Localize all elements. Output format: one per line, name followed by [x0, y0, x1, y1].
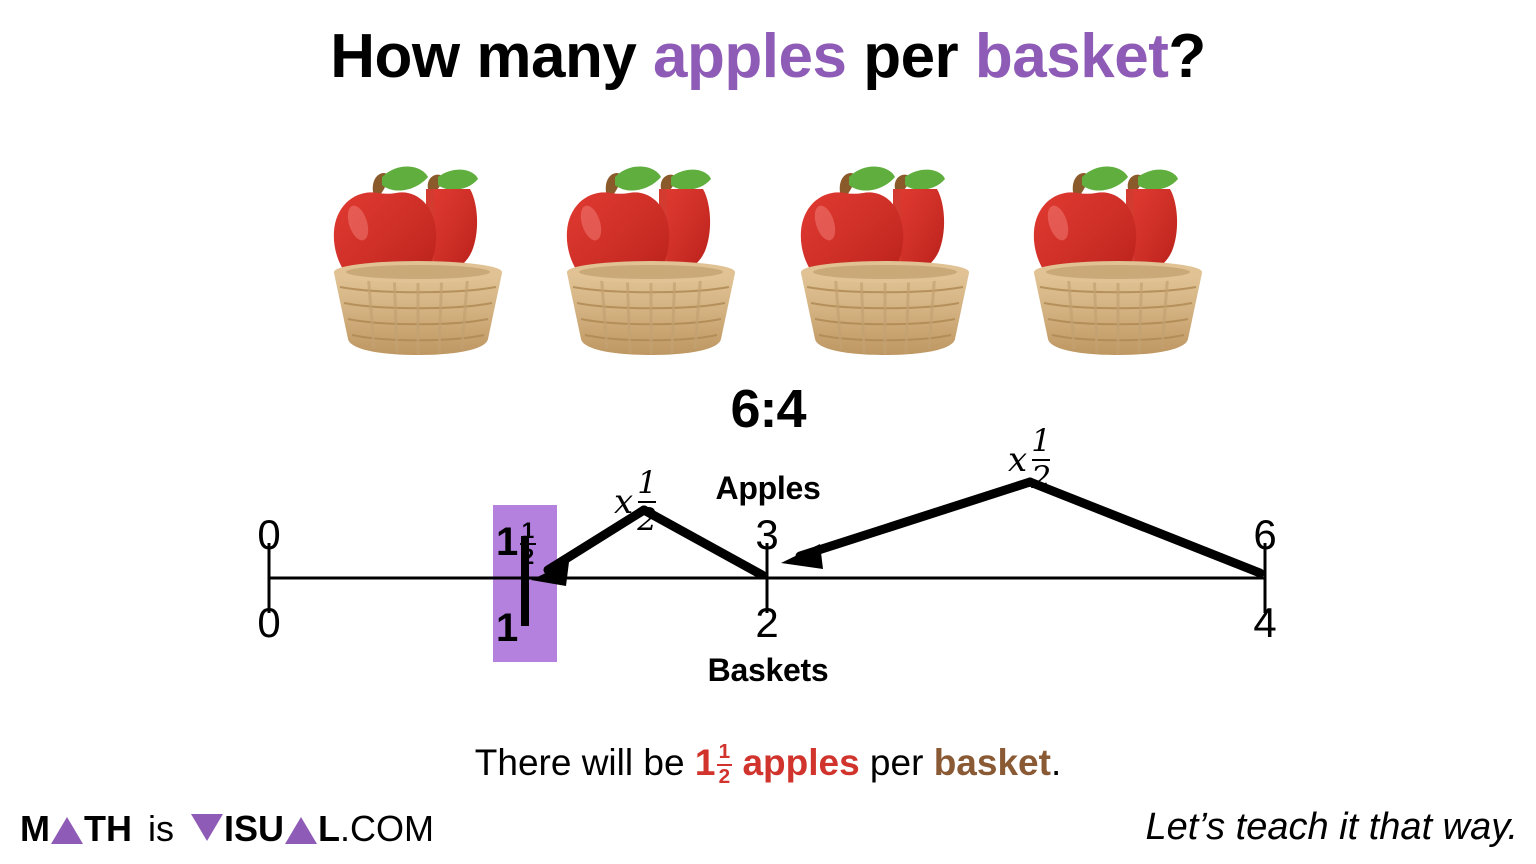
title-part-3: ?	[1168, 22, 1205, 91]
sentence-value: 112	[695, 742, 732, 783]
arrowhead	[781, 544, 823, 569]
sentence-middle: per	[860, 742, 934, 783]
basket-with-apples-3	[785, 147, 985, 362]
logo-th: TH	[84, 808, 132, 850]
sentence-apples-word: apples	[742, 742, 859, 783]
triangle-down-icon	[191, 814, 223, 841]
triangle-up-icon	[51, 817, 83, 844]
jump-arrow-right	[781, 482, 1260, 573]
footer-tagline: Let’s teach it that way.	[1146, 806, 1518, 849]
logo-dotcom: .COM	[340, 808, 434, 850]
site-logo[interactable]: MTHisISUL.COM	[20, 808, 434, 850]
page-title: How many apples per basket?	[0, 24, 1536, 89]
logo-is: is	[148, 808, 174, 850]
basket-icon	[318, 147, 518, 362]
sentence-basket-word: basket	[934, 742, 1051, 783]
title-keyword-basket: basket	[975, 22, 1168, 91]
title-part-2: per	[846, 22, 974, 91]
jump-arrow-left	[531, 510, 762, 586]
basket-icon	[785, 147, 985, 362]
basket-icon	[1018, 147, 1218, 362]
sentence-end: .	[1051, 742, 1061, 783]
conclusion-sentence: There will be 112 apples per basket.	[0, 742, 1536, 788]
logo-isu: ISU	[224, 808, 284, 850]
number-line-graphics	[0, 430, 1536, 700]
double-number-line: Apples Baskets 0 3 6 0 2 4 112 1 x 1 2 x…	[0, 430, 1536, 700]
triangle-up-icon	[285, 817, 317, 844]
sentence-fraction: 12	[717, 742, 733, 787]
sentence-lead: There will be	[475, 742, 695, 783]
basket-with-apples-4	[1018, 147, 1218, 362]
title-part-1: How many	[330, 22, 653, 91]
basket-icon	[551, 147, 751, 362]
basket-with-apples-1	[318, 147, 518, 362]
logo-l: L	[318, 808, 340, 850]
logo-m: M	[20, 808, 50, 850]
title-keyword-apples: apples	[653, 22, 846, 91]
basket-with-apples-2	[551, 147, 751, 362]
baskets-row	[318, 142, 1218, 362]
